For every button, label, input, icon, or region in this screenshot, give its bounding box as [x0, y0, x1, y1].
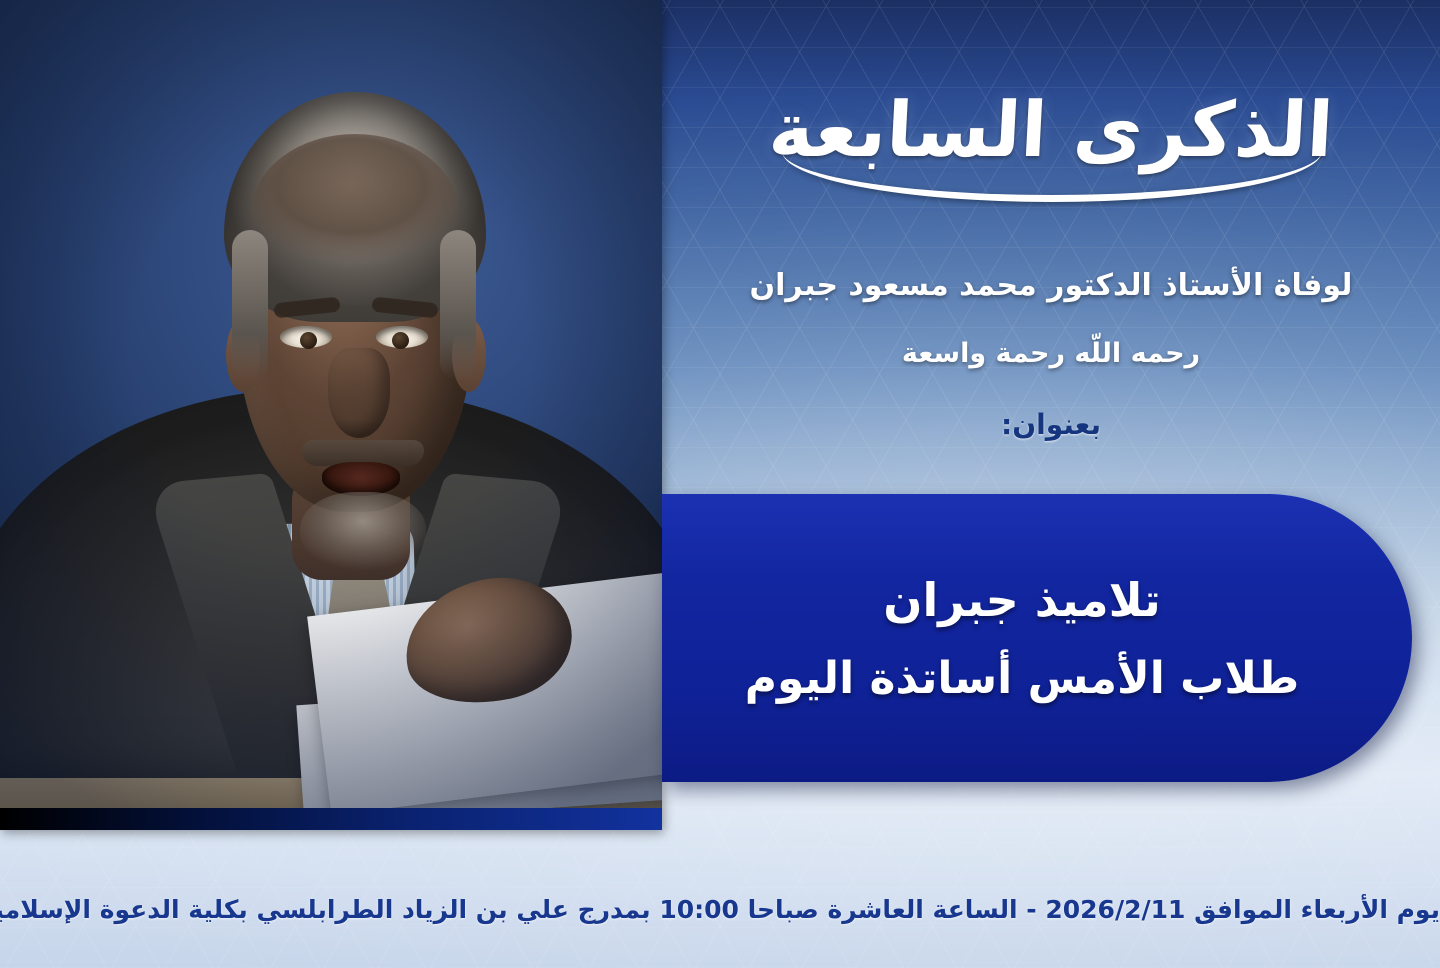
calligraphy-swash-decoration: [782, 151, 1322, 202]
portrait-photo: [0, 0, 662, 830]
right-text-column: الذكرى السابعة لوفاة الأستاذ الدكتور محم…: [662, 0, 1440, 968]
calligraphy-title-block: الذكرى السابعة: [662, 44, 1440, 214]
photo-vignette: [0, 0, 662, 830]
memorial-poster: الذكرى السابعة لوفاة الأستاذ الدكتور محم…: [0, 0, 1440, 968]
subtitle-line-1: لوفاة الأستاذ الدكتور محمد مسعود جبران: [662, 268, 1440, 303]
event-details-footer: يوم الأربعاء الموافق 2026/2/11 - الساعة …: [0, 894, 1440, 925]
banner-title-line-2: طلاب الأمس أساتذة اليوم: [745, 653, 1330, 704]
photo-bottom-band: [0, 808, 662, 830]
topic-label: بعنوان:: [662, 408, 1440, 441]
subtitle-line-2: رحمه اللّه رحمة واسعة: [662, 338, 1440, 369]
topic-banner: تلاميذ جبران طلاب الأمس أساتذة اليوم: [662, 494, 1412, 782]
banner-title-line-1: تلاميذ جبران: [883, 573, 1191, 627]
